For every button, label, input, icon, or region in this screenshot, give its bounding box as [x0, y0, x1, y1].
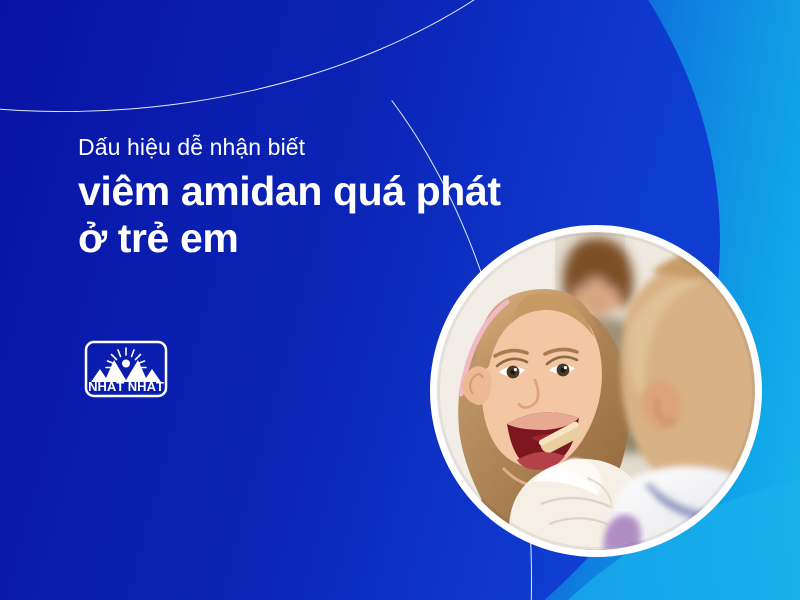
promo-banner: Dấu hiệu dễ nhận biết viêm amidan quá ph…	[0, 0, 800, 600]
kicker-text: Dấu hiệu dễ nhận biết	[78, 133, 638, 162]
photo-circle	[437, 232, 755, 550]
nhat-nhat-logo: NHẤT NHẤT	[84, 340, 168, 398]
headline-block: Dấu hiệu dễ nhận biết viêm amidan quá ph…	[78, 133, 638, 263]
page-title: viêm amidan quá phát ở trẻ em	[78, 168, 638, 263]
headline-line-1: viêm amidan quá phát	[78, 168, 638, 216]
headline-line-2: ở trẻ em	[78, 215, 638, 263]
logo-wordmark: NHẤT NHẤT	[88, 379, 164, 394]
